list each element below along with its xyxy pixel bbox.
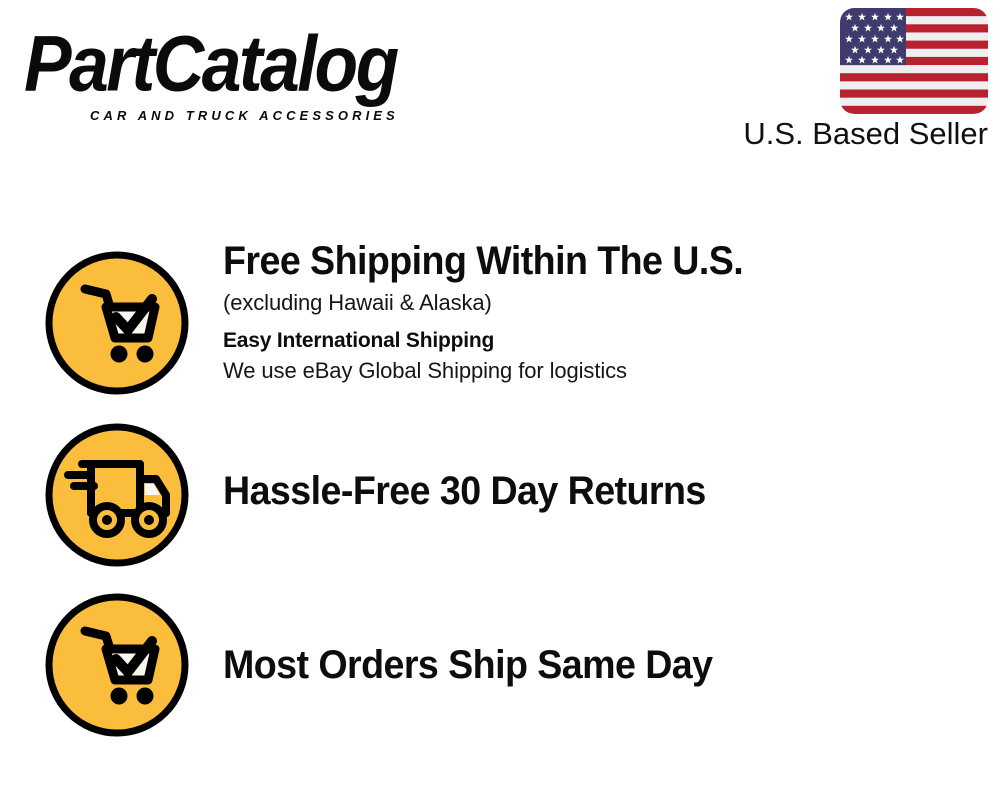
international-shipping-text: We use eBay Global Shipping for logistic… xyxy=(223,356,990,386)
feature-row-same-day-shipping: Most Orders Ship Same Day xyxy=(0,592,1000,740)
us-flag-icon xyxy=(840,8,988,114)
free-shipping-text-block: Free Shipping Within The U.S. (excluding… xyxy=(223,238,990,386)
cart-check-icon xyxy=(44,592,190,738)
same-day-text-block: Most Orders Ship Same Day xyxy=(223,642,990,688)
returns-headline: Hassle-Free 30 Day Returns xyxy=(223,468,944,514)
brand-logo: PartCatalog CAR AND TRUCK ACCESSORIES xyxy=(24,22,494,120)
promo-banner: PartCatalog CAR AND TRUCK ACCESSORIES xyxy=(0,0,1000,800)
us-based-seller-label: U.S. Based Seller xyxy=(0,116,1000,152)
cart-check-icon xyxy=(44,250,190,396)
returns-text-block: Hassle-Free 30 Day Returns xyxy=(223,468,990,514)
feature-row-returns: Hassle-Free 30 Day Returns xyxy=(0,422,1000,568)
brand-name: PartCatalog xyxy=(24,22,503,105)
feature-row-free-shipping: Free Shipping Within The U.S. (excluding… xyxy=(0,250,1000,400)
free-shipping-headline: Free Shipping Within The U.S. xyxy=(223,238,944,284)
same-day-headline: Most Orders Ship Same Day xyxy=(223,642,944,688)
free-shipping-note: (excluding Hawaii & Alaska) xyxy=(223,288,990,318)
delivery-truck-icon xyxy=(44,422,190,568)
international-shipping-heading: Easy International Shipping xyxy=(223,326,990,356)
